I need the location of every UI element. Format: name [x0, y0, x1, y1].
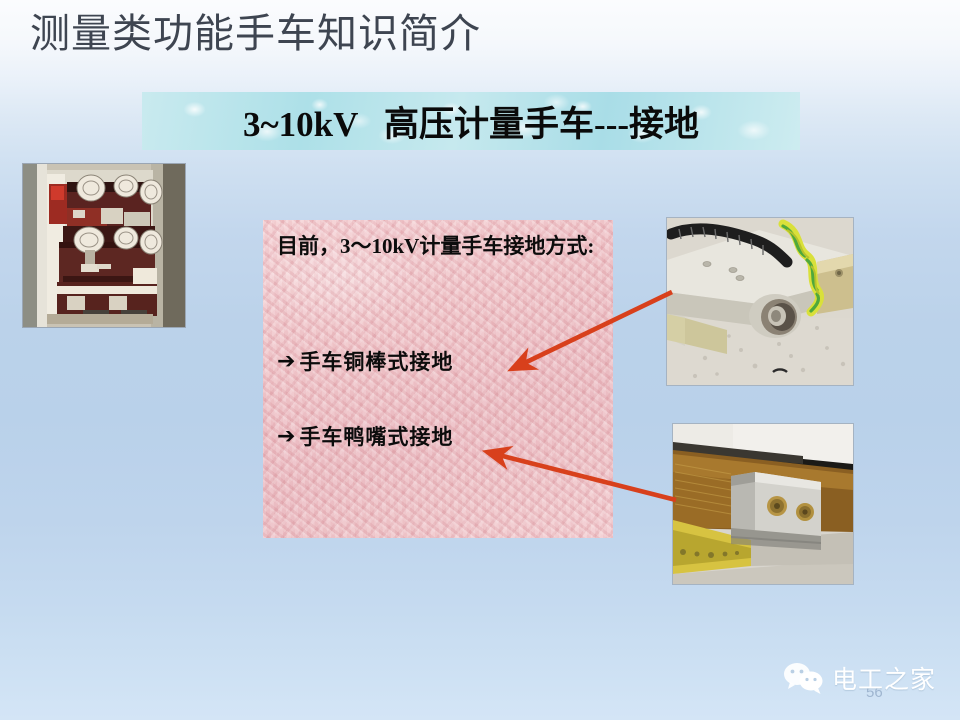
switchgear-truck-image: [23, 164, 185, 327]
wechat-icon: [782, 661, 826, 695]
duckbill-grounding-image: [673, 424, 853, 584]
section-banner-label: 3~10kV 高压计量手车---接地: [243, 96, 699, 147]
arrow-right-icon: ➔: [277, 426, 295, 448]
slide-canvas: 测量类功能手车知识简介 3~10kV 高压计量手车---接地: [0, 0, 960, 720]
bullet-label-duckbill: 手车鸭嘴式接地: [299, 427, 453, 448]
copper-rod-grounding-image: [667, 218, 853, 385]
content-panel-inner: 目前，3～10kV计量手车接地方式:: [277, 230, 605, 262]
photo-copper-rod-grounding: [666, 217, 854, 386]
intro-text: 目前，3～10kV计量手车接地方式:: [277, 230, 605, 262]
bullet-item-duckbill: ➔ 手车鸭嘴式接地: [277, 426, 453, 448]
bullet-item-copper-rod: ➔ 手车铜棒式接地: [277, 351, 453, 373]
photo-switchgear-truck: [22, 163, 186, 328]
section-banner: 3~10kV 高压计量手车---接地: [142, 92, 800, 150]
photo-duckbill-grounding: [672, 423, 854, 585]
page-title: 测量类功能手车知识简介: [30, 8, 481, 60]
bullet-label-copper-rod: 手车铜棒式接地: [299, 352, 453, 373]
arrow-right-icon: ➔: [277, 351, 295, 373]
watermark-label: 电工之家: [832, 660, 936, 696]
watermark: 电工之家: [782, 660, 936, 696]
content-panel: 目前，3～10kV计量手车接地方式: ➔ 手车铜棒式接地 ➔ 手车鸭嘴式接地: [263, 220, 613, 538]
